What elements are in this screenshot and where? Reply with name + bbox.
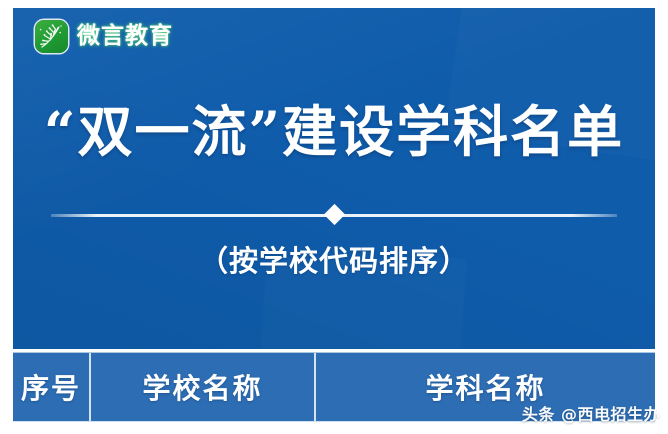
brand-name-label: 微言教育 [77,25,173,48]
watermark-label: 头条 @西电招生办 [522,401,660,425]
dandelion-leaf-icon [35,20,68,53]
brand-header: 微言教育 [35,20,173,53]
poster-banner: 微言教育 “双一流”建设学科名单 （按学校代码排序） [13,8,655,349]
column-header-seq[interactable]: 序号 [13,353,91,421]
screenshot-root: 微言教育 “双一流”建设学科名单 （按学校代码排序） 序号 学校名称 学科名称 … [0,0,668,434]
ornamental-divider [51,206,617,224]
column-header-school-name[interactable]: 学校名称 [91,353,316,421]
diamond-ornament-icon [323,204,344,225]
page-title: “双一流”建设学科名单 [13,103,655,161]
page-subtitle: （按学校代码排序） [13,244,655,279]
